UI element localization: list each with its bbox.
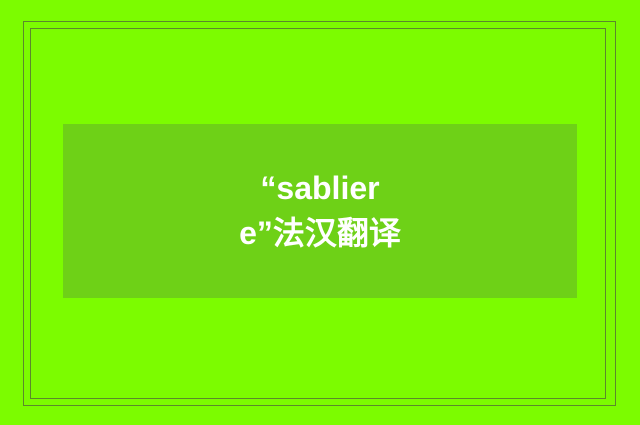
headline-text: “sabliere”法汉翻译 — [231, 166, 409, 257]
page-canvas: “sabliere”法汉翻译 — [0, 0, 640, 425]
content-panel: “sabliere”法汉翻译 — [63, 124, 577, 298]
